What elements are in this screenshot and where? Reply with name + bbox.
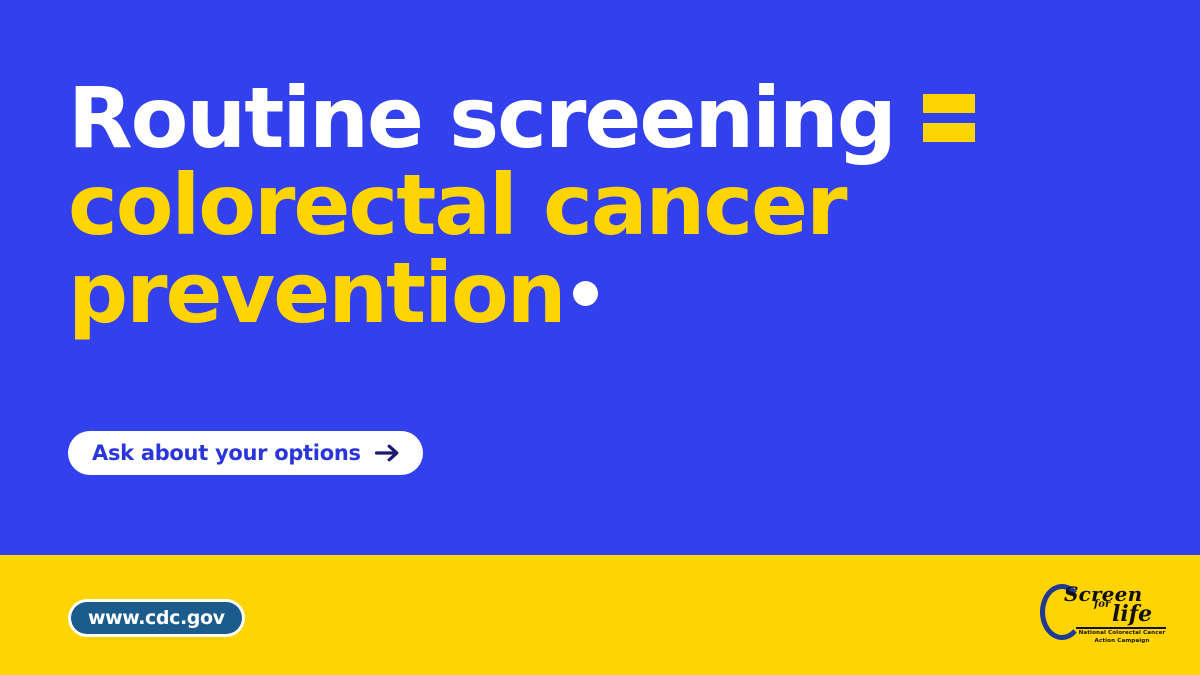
screen-for-life-logo: Screen for life National Colorectal Canc… xyxy=(1040,582,1168,644)
headline-line-1-text: Routine screening xyxy=(68,78,895,159)
headline-line-3: prevention xyxy=(68,253,1138,334)
headline-line-3-text: prevention xyxy=(68,253,565,334)
cta-button-label: Ask about your options xyxy=(92,441,361,465)
cdc-url-badge[interactable]: www.cdc.gov xyxy=(68,599,245,637)
cdc-url-text: www.cdc.gov xyxy=(88,607,225,629)
headline-line-2: colorectal cancer xyxy=(68,165,1138,246)
equals-sign-icon xyxy=(923,94,975,144)
logo-word-for: for xyxy=(1094,599,1110,610)
campaign-poster: Routine screening colorectal cancer prev… xyxy=(0,0,1200,675)
ask-about-your-options-button[interactable]: Ask about your options xyxy=(68,431,423,475)
arrow-right-icon xyxy=(375,443,401,463)
headline-period xyxy=(573,281,598,306)
headline-line-2-text: colorectal cancer xyxy=(68,165,846,246)
equals-bar-bottom xyxy=(923,123,975,142)
equals-bar-top xyxy=(923,94,975,113)
headline-block: Routine screening colorectal cancer prev… xyxy=(68,78,1138,334)
logo-word-life: life xyxy=(1112,601,1152,627)
logo-tagline: National Colorectal Cancer Action Campai… xyxy=(1076,629,1168,645)
cdc-url-badge-inner: www.cdc.gov xyxy=(71,602,242,634)
headline-line-1: Routine screening xyxy=(68,78,1138,159)
